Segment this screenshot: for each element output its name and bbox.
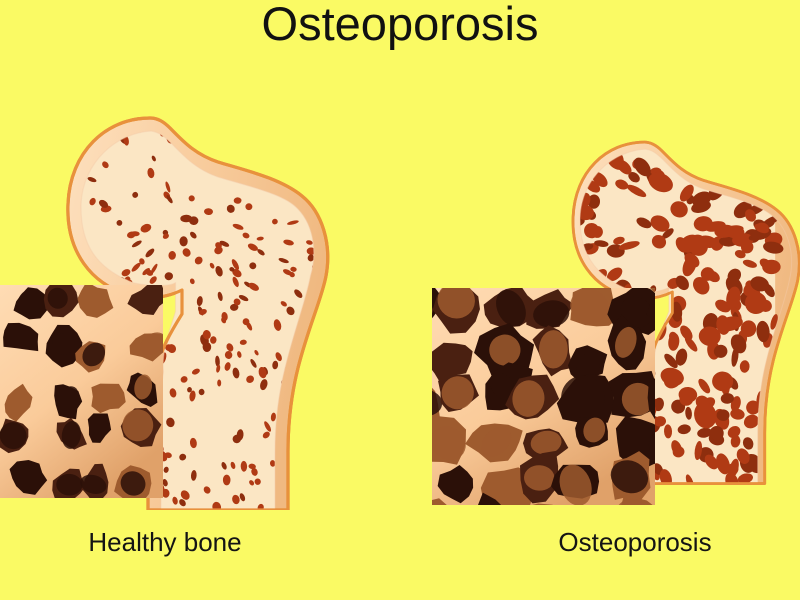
- healthy-bone-inset: [0, 285, 163, 498]
- osteoporosis-bone-inset: [432, 288, 655, 505]
- page-title: Osteoporosis: [0, 0, 800, 51]
- healthy-bone-label: Healthy bone: [0, 527, 330, 558]
- illustration-canvas: Osteoporosis Healthy bone Osteoporosis: [0, 0, 800, 600]
- osteoporosis-bone-label: Osteoporosis: [470, 527, 800, 558]
